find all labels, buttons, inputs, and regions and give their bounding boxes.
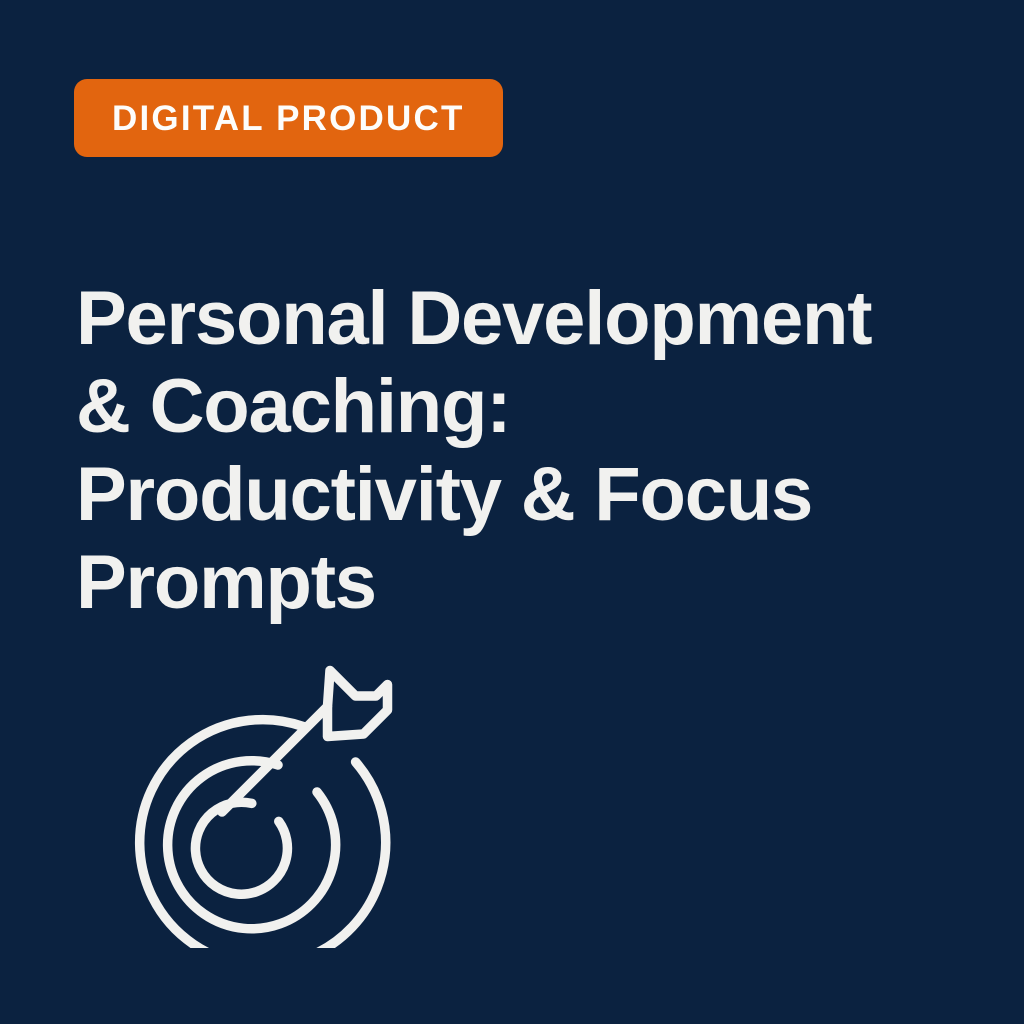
target-ring-inner xyxy=(195,802,287,894)
target-arrow-icon-graphic xyxy=(88,648,448,948)
title-line-1: Personal Development xyxy=(76,275,976,363)
page-title: Personal Development & Coaching: Product… xyxy=(76,275,976,627)
arrow-fletching xyxy=(328,671,388,737)
title-line-3: Productivity & Focus xyxy=(76,451,976,539)
promo-card: DIGITAL PRODUCT Personal Development & C… xyxy=(0,0,1024,1024)
title-line-2: & Coaching: xyxy=(76,363,976,451)
title-line-4: Prompts xyxy=(76,539,976,627)
category-badge-label: DIGITAL PRODUCT xyxy=(112,101,465,136)
category-badge: DIGITAL PRODUCT xyxy=(74,79,503,157)
target-ring-outer xyxy=(140,720,386,948)
target-arrow-icon xyxy=(88,648,448,948)
